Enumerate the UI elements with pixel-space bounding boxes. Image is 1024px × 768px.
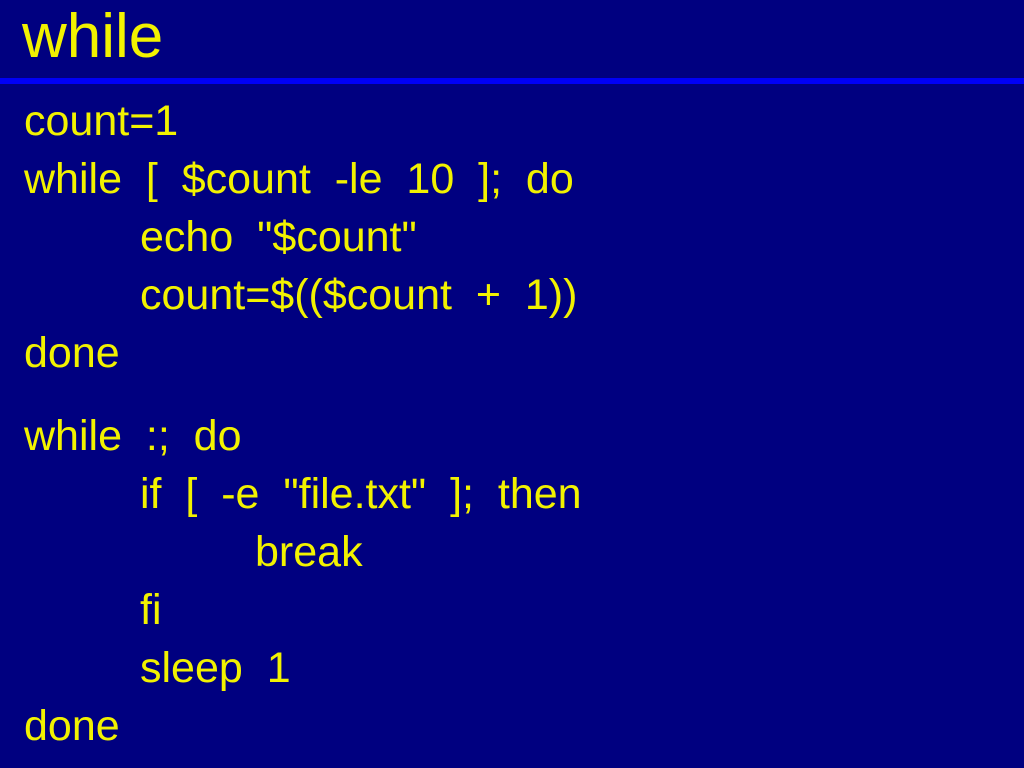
code-line: sleep 1 [0, 639, 1024, 697]
slide-body: count=1 while [ $count -le 10 ]; do echo… [0, 84, 1024, 768]
code-line: fi [0, 581, 1024, 639]
code-line: while :; do [0, 407, 1024, 465]
code-line: count=1 [0, 92, 1024, 150]
code-line: done [0, 324, 1024, 382]
code-line: done [0, 697, 1024, 755]
code-line: count=$(($count + 1)) [0, 266, 1024, 324]
code-block-while-infinite: while :; do if [ -e "file.txt" ]; then b… [0, 407, 1024, 755]
code-line: echo "$count" [0, 208, 1024, 266]
slide: while count=1 while [ $count -le 10 ]; d… [0, 0, 1024, 768]
code-line: while [ $count -le 10 ]; do [0, 150, 1024, 208]
code-line: break [0, 523, 1024, 581]
code-block-while-counter: count=1 while [ $count -le 10 ]; do echo… [0, 92, 1024, 382]
title-area: while [0, 0, 1024, 79]
page-title: while [22, 0, 163, 76]
code-line: if [ -e "file.txt" ]; then [0, 465, 1024, 523]
